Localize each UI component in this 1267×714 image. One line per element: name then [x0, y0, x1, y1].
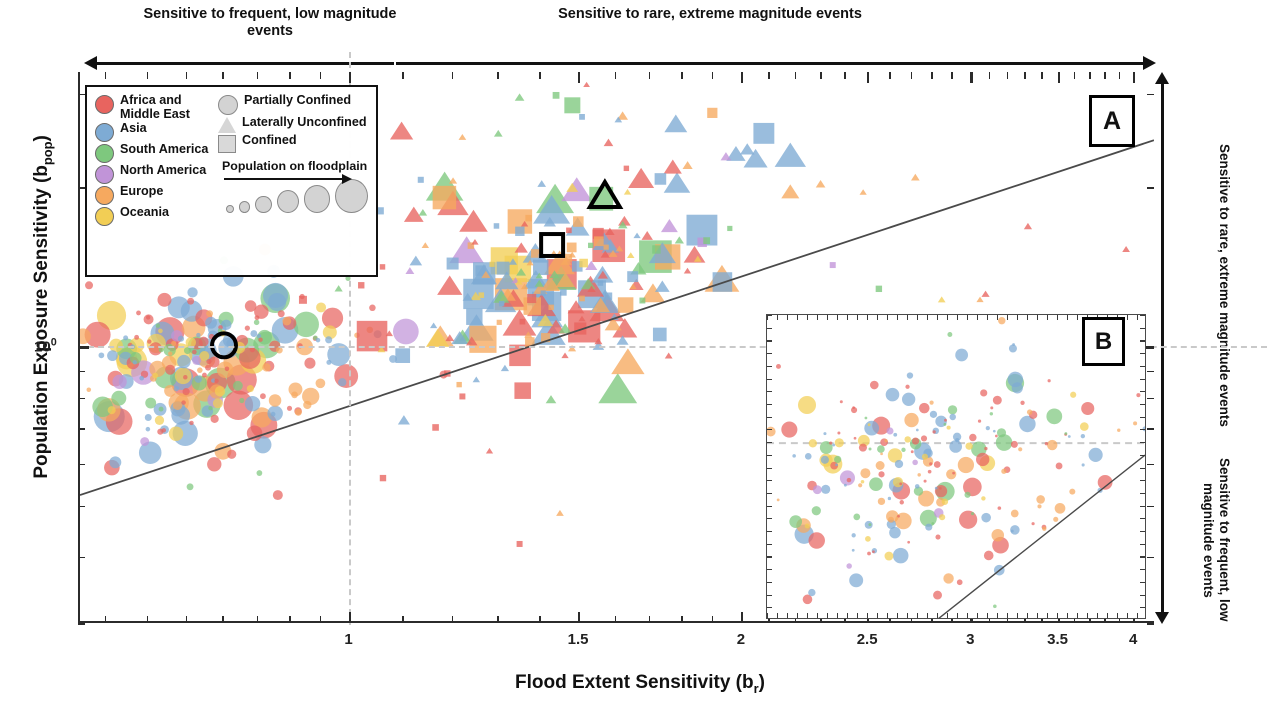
x-axis-minor-tick: [712, 616, 714, 623]
data-point-circle: [256, 470, 262, 476]
x-axis-minor-tick: [931, 72, 933, 79]
x-axis-major-tick: [867, 72, 869, 83]
data-point-circle: [108, 406, 116, 414]
data-point-square: [531, 249, 540, 258]
data-point-square: [567, 243, 577, 253]
x-axis-minor-tick: [452, 616, 454, 623]
inset-x-tick: [997, 315, 998, 320]
data-point-circle: [1056, 463, 1063, 470]
data-point-circle: [269, 394, 282, 406]
data-point-square: [753, 123, 774, 144]
data-point-circle: [995, 435, 998, 438]
x-axis-minor-tick: [681, 616, 683, 623]
data-point-circle: [1012, 382, 1023, 393]
legend-region-item: Africa and Middle East: [95, 94, 212, 121]
data-point-circle: [1070, 392, 1076, 398]
x-axis-minor-tick: [222, 616, 224, 623]
inset-x-tick: [1027, 613, 1028, 618]
inset-x-tick: [927, 613, 928, 618]
data-point-circle: [183, 388, 190, 395]
top-left-annotation: Sensitive to frequent, low magnitude eve…: [120, 6, 420, 40]
legend-confinement-label: Confined: [242, 134, 297, 148]
data-point-circle: [1117, 429, 1120, 432]
data-point-circle: [157, 293, 171, 307]
data-point-circle: [1068, 435, 1071, 438]
data-point-circle: [208, 406, 212, 410]
data-point-triangle: [471, 239, 478, 245]
y-axis-minor-tick: [78, 428, 85, 430]
data-point-circle: [393, 319, 419, 345]
inset-x-tick: [877, 613, 878, 618]
data-point-square: [548, 305, 553, 310]
data-point-square: [553, 92, 560, 99]
data-point-circle: [902, 393, 915, 406]
panel-b-label: B: [1082, 317, 1125, 366]
x-axis-minor-tick: [1074, 72, 1076, 79]
data-point-circle: [878, 498, 885, 505]
inset-x-tick: [1057, 613, 1058, 618]
inset-y-tick: [767, 417, 772, 418]
data-point-circle: [981, 513, 991, 523]
inset-x-tick: [977, 613, 978, 618]
inset-x-tick: [967, 613, 968, 618]
data-point-square: [566, 228, 572, 234]
data-point-circle: [864, 421, 879, 436]
data-point-circle: [287, 406, 292, 411]
data-point-circle: [872, 550, 875, 553]
data-point-circle: [1055, 503, 1066, 514]
data-point-circle: [955, 438, 959, 442]
x-axis-minor-tick: [147, 616, 149, 623]
inset-y-tick: [767, 366, 772, 367]
inset-x-tick: [857, 315, 858, 320]
data-point-circle: [316, 378, 326, 388]
data-point-triangle: [598, 373, 637, 403]
x-axis-minor-tick: [222, 72, 224, 79]
data-point-triangle: [398, 415, 410, 424]
inset-x-tick: [957, 315, 958, 320]
legend: Africa and Middle EastAsiaSouth AmericaN…: [85, 85, 378, 277]
data-point-triangle: [583, 82, 590, 87]
data-point-square: [541, 290, 546, 295]
data-point-square: [380, 475, 386, 481]
data-point-circle: [993, 396, 1002, 405]
data-point-square: [560, 289, 567, 296]
inset-y-tick: [767, 340, 772, 341]
inset-x-tick: [1127, 315, 1128, 320]
inset-x-tick: [907, 315, 908, 320]
inset-y-tick: [1140, 391, 1145, 392]
data-point-circle: [247, 385, 254, 392]
data-point-circle: [1136, 393, 1140, 397]
x-axis-minor-tick: [615, 72, 617, 79]
data-point-circle: [998, 317, 1005, 324]
x-axis-minor-tick: [257, 72, 259, 79]
inset-y-tick: [767, 518, 772, 519]
data-point-circle: [939, 487, 942, 490]
data-point-circle: [215, 386, 226, 396]
data-point-circle: [1045, 442, 1048, 445]
data-point-circle: [196, 333, 200, 337]
data-point-circle: [123, 335, 128, 340]
inset-x-tick: [1077, 613, 1078, 618]
legend-region-label: South America: [120, 143, 208, 157]
data-point-circle: [955, 349, 968, 362]
legend-region-label: Asia: [120, 122, 147, 136]
data-point-circle: [907, 541, 910, 544]
data-point-circle: [250, 330, 257, 337]
inset-x-tick: [917, 315, 918, 320]
data-point-circle: [912, 437, 919, 444]
data-point-circle: [169, 427, 183, 441]
data-point-circle: [915, 484, 920, 489]
data-point-circle: [888, 517, 894, 523]
y-axis-minor-tick: [1147, 506, 1154, 508]
data-point-circle: [1064, 432, 1067, 435]
data-point-circle: [837, 431, 840, 434]
y-axis-tick-label: 100: [34, 337, 57, 356]
inset-x-tick: [1047, 315, 1048, 320]
inset-y-tick: [1140, 366, 1145, 367]
data-point-circle: [860, 468, 870, 478]
data-point-triangle: [655, 280, 670, 291]
data-point-circle: [99, 352, 105, 358]
left-direction-arrow: [84, 56, 394, 70]
data-point-circle: [907, 372, 913, 378]
x-axis-minor-tick: [452, 72, 454, 79]
inset-x-tick: [887, 613, 888, 618]
x-axis-minor-tick: [911, 72, 913, 79]
data-point-triangle: [781, 184, 799, 198]
data-point-square: [598, 280, 603, 285]
region-color-dot-icon: [95, 95, 114, 114]
data-point-circle: [853, 513, 860, 520]
data-point-circle: [1080, 422, 1089, 431]
size-legend-arrow: [224, 174, 352, 184]
data-point-circle: [852, 406, 855, 409]
data-point-circle: [893, 433, 897, 437]
data-point-circle: [895, 460, 903, 468]
circle-shape-icon: [218, 95, 238, 115]
data-point-circle: [1042, 526, 1046, 530]
x-axis-minor-tick: [349, 616, 351, 623]
x-axis-major-tick: [578, 612, 580, 623]
data-point-circle: [870, 381, 879, 390]
data-point-circle: [996, 434, 1013, 451]
data-point-circle: [869, 447, 872, 450]
data-point-circle: [1031, 522, 1034, 525]
data-point-triangle: [860, 189, 867, 195]
inset-x-tick: [1007, 613, 1008, 618]
data-point-circle: [174, 386, 179, 391]
inset-x-tick: [827, 613, 828, 618]
data-point-circle: [901, 448, 905, 452]
data-point-circle: [980, 389, 987, 396]
data-point-triangle: [684, 246, 706, 263]
data-point-circle: [821, 485, 830, 494]
data-point-triangle: [665, 352, 673, 358]
data-point-circle: [808, 589, 815, 596]
x-axis-minor-tick: [951, 72, 953, 79]
data-point-circle: [278, 310, 285, 317]
inset-x-tick: [1097, 613, 1098, 618]
data-point-circle: [861, 480, 865, 484]
data-point-circle: [152, 373, 158, 379]
data-point-circle: [805, 523, 810, 528]
inset-y-tick: [767, 506, 772, 507]
data-point-square: [456, 382, 461, 387]
data-point-circle: [197, 367, 203, 373]
region-color-dot-icon: [95, 144, 114, 163]
data-point-circle: [847, 478, 852, 483]
inset-y-tick: [1140, 607, 1145, 608]
data-point-circle: [178, 336, 184, 342]
inset-x-tick: [1047, 613, 1048, 618]
data-point-triangle: [561, 352, 568, 358]
x-axis-tick-label: 1.5: [568, 631, 589, 648]
data-point-triangle: [561, 177, 592, 201]
inset-x-tick: [797, 315, 798, 320]
data-point-circle: [175, 368, 192, 385]
data-point-circle: [291, 392, 298, 399]
inset-y-tick: [767, 531, 772, 532]
data-point-circle: [245, 396, 261, 411]
data-point-circle: [207, 457, 221, 471]
data-point-circle: [969, 434, 976, 441]
x-axis-minor-tick: [257, 616, 259, 623]
data-point-circle: [1001, 469, 1006, 474]
region-color-dot-icon: [95, 186, 114, 205]
x-axis-minor-tick: [768, 72, 770, 79]
data-point-circle: [944, 423, 947, 426]
y-axis-minor-tick: [78, 557, 85, 559]
inset-x-tick: [1067, 613, 1068, 618]
inset-y-tick: [767, 328, 772, 329]
x-axis-tick-label: 2.5: [857, 631, 878, 648]
data-point-square: [497, 262, 510, 275]
data-point-circle: [805, 453, 812, 460]
data-point-circle: [268, 293, 286, 311]
data-point-triangle: [938, 296, 946, 302]
inset-y-tick: [767, 404, 772, 405]
data-point-square: [588, 243, 593, 248]
data-point-circle: [893, 477, 903, 487]
data-point-circle: [239, 398, 244, 403]
inset-y-tick: [767, 569, 772, 570]
data-point-circle: [1047, 440, 1057, 450]
data-point-circle: [912, 460, 918, 466]
inset-y-tick: [767, 315, 772, 316]
data-point-circle: [165, 365, 175, 375]
inset-x-tick: [957, 613, 958, 618]
data-point-circle: [145, 414, 152, 421]
x-axis-minor-tick: [1104, 72, 1106, 79]
data-point-triangle: [661, 219, 678, 232]
data-point-circle: [932, 430, 935, 433]
inset-x-tick: [977, 315, 978, 320]
y-axis-minor-tick: [78, 94, 85, 96]
data-point-circle: [187, 287, 197, 297]
inset-y-tick: [767, 556, 772, 557]
inset-x-tick: [777, 613, 778, 618]
x-axis-minor-tick: [539, 616, 541, 623]
data-point-triangle: [633, 233, 640, 239]
inset-x-tick: [947, 613, 948, 618]
legend-region-list: Africa and Middle EastAsiaSouth AmericaN…: [95, 94, 212, 227]
data-point-circle: [202, 373, 207, 378]
data-point-circle: [869, 477, 883, 491]
data-point-circle: [147, 339, 151, 343]
region-color-dot-icon: [95, 165, 114, 184]
data-point-circle: [884, 439, 887, 442]
data-point-circle: [255, 315, 260, 320]
legend-region-label: North America: [120, 164, 206, 178]
data-point-circle: [868, 523, 871, 526]
data-point-triangle: [459, 134, 467, 140]
data-point-circle: [145, 398, 156, 409]
data-point-circle: [930, 411, 937, 418]
data-point-circle: [852, 549, 855, 552]
data-point-circle: [777, 498, 780, 501]
data-point-square: [433, 186, 457, 209]
data-point-circle: [922, 454, 928, 460]
data-point-circle: [971, 512, 974, 515]
data-point-circle: [282, 317, 291, 326]
size-legend-circle: [255, 196, 271, 213]
data-point-triangle: [546, 395, 557, 403]
data-point-circle: [921, 435, 927, 441]
legend-region-label: Oceania: [120, 206, 169, 220]
data-point-circle: [133, 360, 137, 364]
data-point-circle: [893, 548, 909, 564]
data-point-circle: [812, 506, 821, 515]
data-point-circle: [840, 400, 843, 403]
data-point-circle: [1048, 379, 1051, 382]
figure-root: Sensitive to frequent, low magnitude eve…: [0, 0, 1267, 714]
data-point-circle: [254, 320, 260, 326]
data-point-circle: [957, 579, 963, 585]
x-axis-minor-tick: [1119, 72, 1121, 79]
data-point-circle: [293, 312, 319, 337]
legend-region-item: North America: [95, 164, 212, 184]
data-point-circle: [206, 359, 211, 364]
data-point-square: [830, 262, 836, 268]
data-point-circle: [904, 436, 910, 442]
data-point-circle: [886, 427, 893, 434]
data-point-triangle: [419, 209, 428, 216]
inset-x-tick: [1137, 613, 1138, 618]
x-axis-major-tick: [578, 72, 580, 83]
x-axis-minor-tick: [889, 72, 891, 79]
data-point-circle: [173, 400, 183, 410]
data-point-square: [573, 216, 584, 227]
data-point-triangle: [410, 256, 423, 266]
legend-region-label: Europe: [120, 185, 163, 199]
data-point-triangle: [515, 93, 525, 100]
data-point-triangle: [604, 139, 614, 146]
data-point-square: [494, 223, 500, 229]
inset-x-tick: [1067, 315, 1068, 320]
data-point-circle: [859, 444, 867, 452]
inset-y-tick: [767, 391, 772, 392]
data-point-circle: [990, 412, 993, 415]
data-point-circle: [325, 336, 332, 343]
data-point-triangle: [684, 268, 691, 274]
y-axis-minor-tick: [1147, 464, 1154, 466]
inset-y-tick: [767, 429, 772, 430]
inset-y-tick: [767, 544, 772, 545]
inset-x-tick: [937, 613, 938, 618]
data-point-circle: [846, 563, 852, 569]
data-point-square: [459, 393, 465, 399]
x-axis-minor-tick: [402, 616, 404, 623]
top-right-annotation: Sensitive to rare, extreme magnitude eve…: [540, 6, 880, 23]
inset-x-tick: [777, 315, 778, 320]
data-point-square: [514, 382, 531, 399]
data-point-circle: [952, 472, 955, 475]
inset-x-tick: [897, 613, 898, 618]
data-point-circle: [1037, 504, 1041, 508]
x-axis-minor-tick: [105, 72, 107, 79]
y-axis-minor-tick: [1147, 557, 1154, 559]
data-point-circle: [929, 401, 933, 405]
data-point-circle: [949, 414, 956, 421]
y-axis-minor-tick: [78, 623, 85, 625]
data-point-circle: [1036, 495, 1045, 504]
data-point-circle: [792, 454, 796, 458]
data-point-circle: [195, 375, 202, 382]
data-point-circle: [880, 452, 883, 455]
inset-x-tick: [797, 613, 798, 618]
data-point-circle: [943, 573, 953, 583]
inset-x-tick: [767, 613, 768, 618]
inset-x-tick: [1017, 315, 1018, 320]
x-axis-minor-tick: [289, 72, 291, 79]
data-point-triangle: [556, 510, 564, 516]
inset-x-tick: [917, 613, 918, 618]
inset-y-tick: [1140, 595, 1145, 596]
x-axis-title: Flood Extent Sensitivity (br): [330, 672, 950, 696]
inset-x-tick: [987, 613, 988, 618]
data-point-square: [604, 245, 609, 250]
data-point-circle: [877, 445, 885, 453]
data-point-circle: [1082, 463, 1085, 466]
size-legend-circle: [226, 205, 234, 213]
data-point-circle: [171, 341, 176, 346]
inset-y-tick: [1140, 480, 1145, 481]
data-point-circle: [844, 484, 847, 487]
right-direction-arrow: [396, 56, 1156, 70]
data-point-circle: [939, 514, 945, 520]
data-point-square: [727, 226, 732, 231]
data-point-circle: [808, 532, 824, 548]
y-axis-title: Population Exposure Sensitivity (bpop): [31, 92, 55, 522]
data-point-circle: [304, 358, 315, 369]
data-point-circle: [107, 350, 118, 361]
inset-y-tick: [767, 595, 772, 596]
inset-x-tick: [907, 613, 908, 618]
inset-x-tick: [1037, 315, 1038, 320]
data-point-circle: [876, 461, 885, 470]
data-point-square: [618, 297, 634, 313]
inset-x-tick: [847, 315, 848, 320]
legend-confinement-label: Partially Confined: [244, 94, 351, 108]
inset-x-tick: [927, 315, 928, 320]
size-legend-circle: [304, 185, 331, 213]
x-axis-minor-tick: [186, 72, 188, 79]
data-point-circle: [1053, 517, 1058, 522]
data-point-circle: [146, 315, 150, 319]
